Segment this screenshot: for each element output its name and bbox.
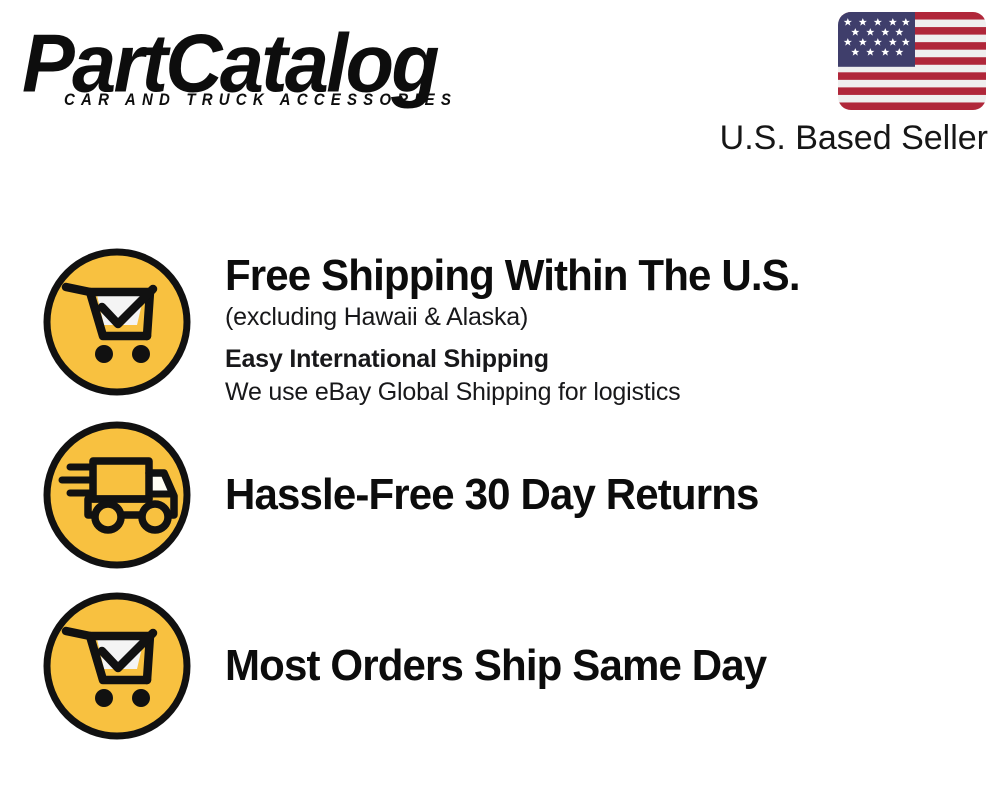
us-based-seller-badge (836, 10, 988, 112)
shopping-cart-check-icon (40, 589, 194, 743)
feature-text-same-day: Most Orders Ship Same Day (194, 589, 980, 743)
feature-text-free-shipping: Free Shipping Within The U.S. (excluding… (194, 245, 980, 409)
feature-heading: Most Orders Ship Same Day (225, 641, 946, 691)
feature-sub-bold: Easy International Shipping (225, 343, 980, 376)
feature-text-returns: Hassle-Free 30 Day Returns (194, 418, 980, 572)
us-flag-icon (836, 10, 988, 112)
feature-sub-detail: We use eBay Global Shipping for logistic… (225, 376, 980, 409)
feature-heading: Hassle-Free 30 Day Returns (225, 470, 946, 520)
brand-tagline: CAR AND TRUCK ACCESSORIES (64, 92, 457, 108)
brand-logo: PartCatalog CAR AND TRUCK ACCESSORIES (22, 22, 492, 122)
delivery-truck-icon (40, 418, 194, 572)
feature-row-same-day: Most Orders Ship Same Day (40, 589, 980, 743)
feature-subnote: (excluding Hawaii & Alaska) (225, 301, 980, 334)
promo-banner: PartCatalog CAR AND TRUCK ACCESSORIES (0, 0, 1000, 800)
feature-row-returns: Hassle-Free 30 Day Returns (40, 418, 980, 572)
shopping-cart-check-icon (40, 245, 194, 399)
spacer (225, 334, 980, 343)
feature-row-free-shipping: Free Shipping Within The U.S. (excluding… (40, 245, 980, 409)
us-based-seller-label: U.S. Based Seller (588, 118, 988, 158)
feature-heading: Free Shipping Within The U.S. (225, 251, 946, 301)
